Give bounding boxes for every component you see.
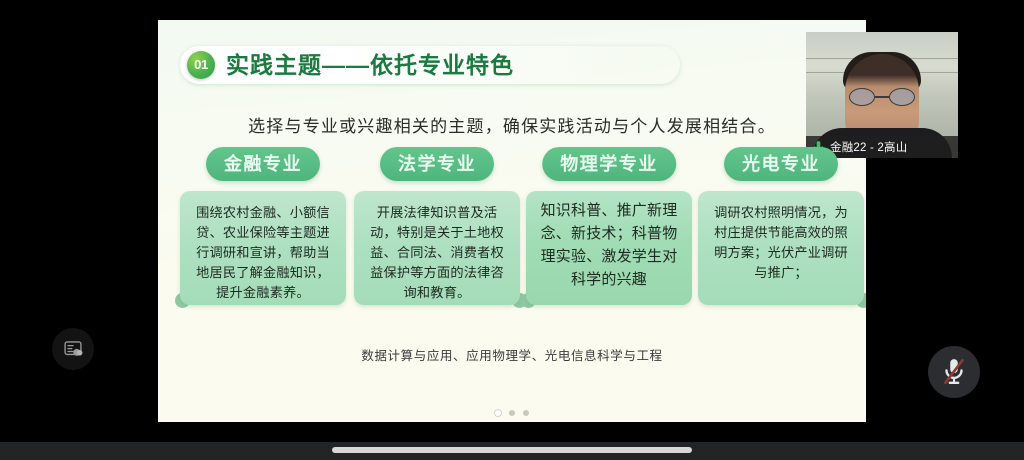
major-pill-finance: 金融专业 bbox=[206, 147, 320, 181]
participant-name-label: 金融22 - 2高山 bbox=[830, 139, 907, 155]
whiteboard-notes-icon bbox=[63, 339, 83, 359]
person-glasses bbox=[849, 88, 915, 106]
page-dot-2[interactable] bbox=[509, 410, 515, 416]
glasses-lens-right bbox=[889, 88, 915, 106]
page-dot-3[interactable] bbox=[523, 410, 529, 416]
screen-root: 01 实践主题——依托专业特色 选择与专业或兴趣相关的主题，确保实践活动与个人发… bbox=[0, 0, 1024, 460]
major-card-body-finance: 围绕农村金融、小额信贷、农业保险等主题进行调研和宣讲，帮助当地居民了解金融知识，… bbox=[180, 191, 346, 305]
major-pill-law: 法学专业 bbox=[380, 147, 494, 181]
major-card-text: 知识科普、推广新理念、新技术；科普物理实验、激发学生对科学的兴趣 bbox=[536, 199, 682, 291]
participant-video-tile[interactable]: 金融22 - 2高山 bbox=[806, 32, 958, 158]
major-card-body-physics: 知识科普、推广新理念、新技术；科普物理实验、激发学生对科学的兴趣 bbox=[526, 191, 692, 305]
slide-caption: 数据计算与应用、应用物理学、光电信息科学与工程 bbox=[158, 345, 866, 364]
major-card-text: 调研农村照明情况，为村庄提供节能高效的照明方案；光伏产业调研与推广； bbox=[708, 203, 854, 283]
major-cards-group: 金融专业 围绕农村金融、小额信贷、农业保险等主题进行调研和宣讲，帮助当地居民了解… bbox=[174, 147, 850, 322]
major-card-text: 开展法律知识普及活动，特别是关于土地权益、合同法、消费者权益保护等方面的法律咨询… bbox=[364, 203, 510, 303]
system-navigation-bar bbox=[0, 442, 1024, 460]
shared-slide[interactable]: 01 实践主题——依托专业特色 选择与专业或兴趣相关的主题，确保实践活动与个人发… bbox=[158, 20, 866, 422]
section-number-badge: 01 bbox=[187, 51, 215, 79]
mic-mute-button[interactable] bbox=[928, 346, 980, 398]
major-pill-optoelectronics: 光电专业 bbox=[724, 147, 838, 181]
page-dot-1[interactable] bbox=[495, 410, 501, 416]
slide-subtitle: 选择与专业或兴趣相关的主题，确保实践活动与个人发展相结合。 bbox=[158, 112, 866, 137]
notes-button[interactable] bbox=[52, 328, 94, 370]
slide-title-row: 01 实践主题——依托专业特色 bbox=[180, 46, 680, 84]
microphone-muted-icon bbox=[941, 357, 967, 387]
major-card-text: 围绕农村金融、小额信贷、农业保险等主题进行调研和宣讲，帮助当地居民了解金融知识，… bbox=[190, 203, 336, 303]
page-dots[interactable] bbox=[495, 410, 529, 416]
major-card-body-optoelectronics: 调研农村照明情况，为村庄提供节能高效的照明方案；光伏产业调研与推广； bbox=[698, 191, 864, 305]
home-indicator[interactable] bbox=[332, 447, 692, 453]
glasses-lens-left bbox=[849, 88, 875, 106]
major-pill-physics: 物理学专业 bbox=[542, 147, 676, 181]
glasses-bridge bbox=[875, 96, 889, 98]
major-card-body-law: 开展法律知识普及活动，特别是关于土地权益、合同法、消费者权益保护等方面的法律咨询… bbox=[354, 191, 520, 305]
page-title: 实践主题——依托专业特色 bbox=[226, 50, 514, 80]
